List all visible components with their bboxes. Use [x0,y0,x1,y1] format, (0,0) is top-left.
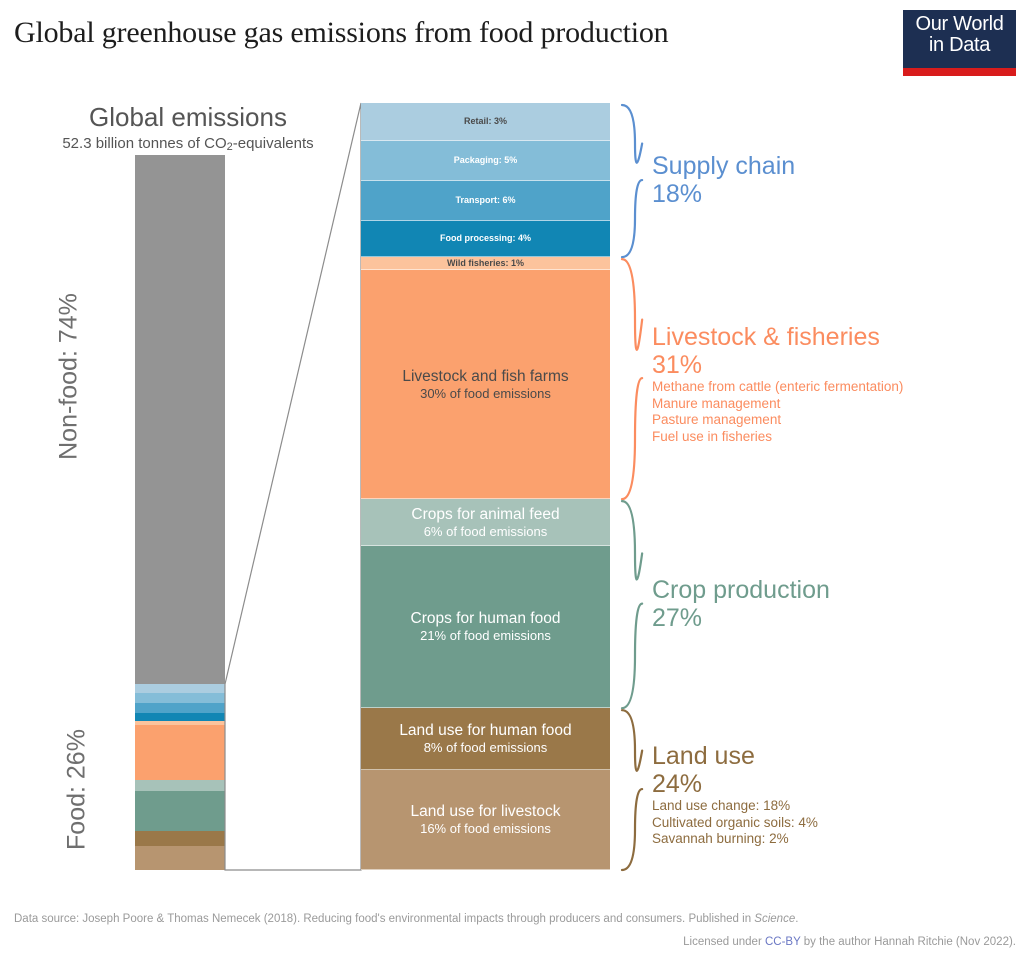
footer-source: Data source: Joseph Poore & Thomas Nemec… [14,913,798,925]
global-emissions-subheading: 52.3 billion tonnes of CO2-equivalents [28,135,348,153]
block-label: Wild fisheries: 1% [447,258,524,269]
bar-segment-retail[interactable] [135,684,225,693]
annotation-supply-chain: Supply chain18% [652,152,795,208]
our-world-in-data-logo[interactable]: Our World in Data [903,10,1016,76]
food-emissions-breakdown-stack: Retail: 3%Packaging: 5%Transport: 6%Food… [361,103,610,870]
chart-canvas: Global greenhouse gas emissions from foo… [0,0,1024,958]
bar-segment-livestock-and-fish-farms[interactable] [135,725,225,781]
annotation-detail: Cultivated organic soils: 4% [652,815,818,832]
block-sublabel: 8% of food emissions [424,740,548,756]
bar-segment-crops-for-animal-feed[interactable] [135,780,225,791]
block-label: Transport: 6% [455,195,515,206]
stack-block-livestock-and-fish-farms[interactable]: Livestock and fish farms30% of food emis… [361,270,610,499]
global-emissions-heading: Global emissions [28,102,348,132]
annotation-title: Supply chain [652,152,795,180]
annotation-percent: 24% [652,770,818,798]
annotation-detail: Pasture management [652,412,903,429]
nonfood-share-label: Non-food: 74% [55,247,84,507]
subheading-post: -equivalents [233,135,314,152]
stack-block-transport[interactable]: Transport: 6% [361,181,610,221]
annotation-livestock-fisheries: Livestock & fisheries31%Methane from cat… [652,323,903,445]
block-sublabel: 21% of food emissions [420,628,551,644]
stack-block-crops-for-animal-feed[interactable]: Crops for animal feed6% of food emission… [361,499,610,546]
subheading-pre: 52.3 billion tonnes of CO [62,135,226,152]
footer-source-pre: Data source: Joseph Poore & Thomas Nemec… [14,913,754,925]
bar-segment-land-use-for-livestock[interactable] [135,846,225,870]
block-label: Land use for human food [399,721,571,740]
block-sublabel: 16% of food emissions [420,821,551,837]
bar-segment-nonfood[interactable] [135,155,225,684]
bar-segment-packaging[interactable] [135,693,225,703]
bar-segment-food-processing[interactable] [135,713,225,722]
annotation-detail: Land use change: 18% [652,798,818,815]
page-title: Global greenhouse gas emissions from foo… [14,16,668,50]
stack-block-packaging[interactable]: Packaging: 5% [361,141,610,181]
block-label: Retail: 3% [464,116,507,127]
annotation-detail: Manure management [652,396,903,413]
annotation-title: Crop production [652,576,830,604]
stack-block-food-processing[interactable]: Food processing: 4% [361,221,610,257]
footer-license-pre: Licensed under [683,936,765,948]
annotation-percent: 27% [652,604,830,632]
stack-block-wild-fisheries[interactable]: Wild fisheries: 1% [361,257,610,270]
block-sublabel: 6% of food emissions [424,524,548,540]
bar-segment-crops-for-human-food[interactable] [135,791,225,830]
stack-block-retail[interactable]: Retail: 3% [361,103,610,141]
annotation-detail: Savannah burning: 2% [652,831,818,848]
bar-segment-transport[interactable] [135,703,225,713]
annotation-percent: 31% [652,351,903,379]
annotation-title: Land use [652,742,818,770]
block-label: Food processing: 4% [440,233,531,244]
cc-by-link[interactable]: CC-BY [765,936,801,948]
block-sublabel: 30% of food emissions [420,386,551,402]
brace-crop-production [622,501,642,708]
bar-segment-land-use-for-human-food[interactable] [135,831,225,846]
block-label: Land use for livestock [411,802,561,821]
footer-license-post: by the author Hannah Ritchie (Nov 2022). [801,936,1016,948]
logo-accent-bar [903,68,1016,76]
footer-source-journal: Science [754,913,795,925]
food-share-label: Food: 26% [63,705,92,875]
block-label: Livestock and fish farms [402,367,568,386]
stack-block-crops-for-human-food[interactable]: Crops for human food21% of food emission… [361,546,610,708]
brace-land-use [622,710,642,870]
block-label: Crops for animal feed [411,505,559,524]
annotation-crop-production: Crop production27% [652,576,830,632]
annotation-detail: Fuel use in fisheries [652,429,903,446]
footer-source-post: . [795,913,798,925]
footer-license: Licensed under CC-BY by the author Hanna… [683,936,1016,948]
global-emissions-bar [135,155,225,870]
annotation-land-use: Land use24%Land use change: 18%Cultivate… [652,742,818,848]
global-emissions-header: Global emissions 52.3 billion tonnes of … [28,102,348,153]
stack-block-land-use-for-human-food[interactable]: Land use for human food8% of food emissi… [361,708,610,770]
annotation-percent: 18% [652,180,795,208]
brace-livestock-fisheries [622,259,642,499]
annotation-detail: Methane from cattle (enteric fermentatio… [652,379,903,396]
stack-block-land-use-for-livestock[interactable]: Land use for livestock16% of food emissi… [361,770,610,870]
block-label: Crops for human food [411,609,561,628]
logo-line-2: in Data [929,35,990,56]
brace-supply-chain [622,105,642,257]
annotation-title: Livestock & fisheries [652,323,903,351]
logo-line-1: Our World [915,14,1003,35]
block-label: Packaging: 5% [454,155,518,166]
